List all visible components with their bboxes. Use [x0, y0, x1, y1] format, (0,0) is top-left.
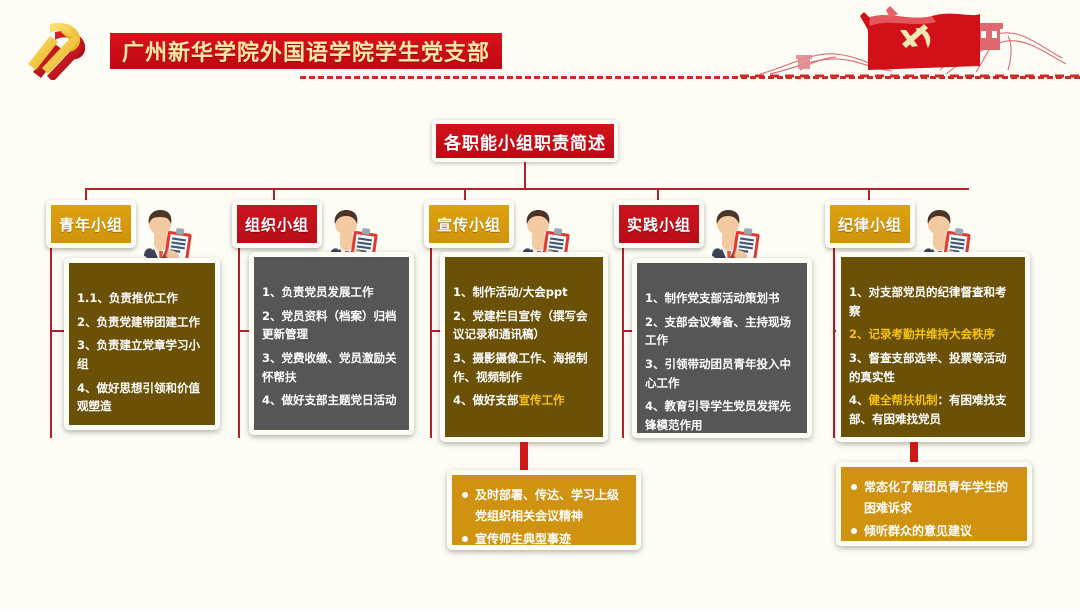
list-item: 倾听群众的意见建议	[851, 521, 1017, 542]
page-title: 广州新华学院外国语学院学生党支部	[110, 33, 502, 69]
slide-canvas: 广州新华学院外国语学院学生党支部	[0, 0, 1080, 609]
bullet-dot-icon	[851, 528, 857, 534]
group-title-2: 组织小组	[237, 205, 317, 243]
group-items-5: 1、对支部党员的纪律督查和考察 2、记录考勤并维持大会秩序 3、督查支部选举、投…	[841, 257, 1025, 437]
connector-rail-1	[50, 248, 52, 438]
bullet-dot-icon	[462, 536, 468, 542]
list-item: 3、摄影摄像工作、海报制作、视频制作	[453, 349, 595, 386]
group-header-5[interactable]: 纪律小组	[825, 200, 915, 248]
list-item: 1、制作党支部活动策划书	[645, 289, 799, 308]
list-item-prefix: 4、	[849, 393, 869, 407]
list-item: 3、党费收缴、党员激励关怀帮扶	[262, 349, 401, 386]
group-body-2: 1、负责党员发展工作 2、党员资料（档案）归档更新管理 3、党费收缴、党员激励关…	[249, 252, 414, 435]
sub-box-2-content: 常态化了解团员青年学生的困难诉求 倾听群众的意见建议	[841, 467, 1027, 541]
bullet-dot-icon	[462, 492, 468, 498]
group-title-1: 青年小组	[51, 205, 131, 243]
list-item: 1、制作活动/大会ppt	[453, 283, 595, 302]
list-item: 4、做好支部主题党日活动	[262, 391, 401, 410]
list-item: 宣传师生典型事迹	[462, 529, 626, 550]
group-body-1: 1.1、负责推优工作 2、负责党建带团建工作 3、负责建立党章学习小组 4、做好…	[64, 258, 220, 430]
group-items-4: 1、制作党支部活动策划书 2、支部会议筹备、主持现场工作 3、引领带动团员青年投…	[637, 263, 807, 433]
list-item-highlight: 宣传工作	[519, 393, 565, 407]
list-item-highlighted: 2、记录考勤并维持大会秩序	[849, 325, 1017, 344]
connector-root-stem	[524, 162, 526, 188]
list-item-highlighted: 4、健全帮扶机制：有困难找支部、有困难找党员	[849, 391, 1017, 428]
list-item: 2、负责党建带团建工作	[77, 313, 207, 332]
list-item: 2、支部会议筹备、主持现场工作	[645, 313, 799, 350]
group-title-5: 纪律小组	[830, 205, 910, 243]
root-title-label: 各职能小组职责简述	[436, 124, 614, 158]
list-item: 1、负责党员发展工作	[262, 283, 401, 302]
list-item: 2、党员资料（档案）归档更新管理	[262, 307, 401, 344]
list-item: 1、对支部党员的纪律督查和考察	[849, 283, 1017, 320]
group-header-4[interactable]: 实践小组	[614, 200, 704, 248]
connector-rail-5	[833, 248, 835, 438]
group-header-1[interactable]: 青年小组	[46, 200, 136, 248]
sub-box-1-content: 及时部署、传达、学习上级党组织相关会议精神 宣传师生典型事迹	[452, 475, 636, 545]
sub-bullet-text: 及时部署、传达、学习上级党组织相关会议精神	[475, 485, 626, 527]
group-body-4: 1、制作党支部活动策划书 2、支部会议筹备、主持现场工作 3、引领带动团员青年投…	[632, 258, 812, 438]
list-item: 3、负责建立党章学习小组	[77, 336, 207, 373]
connector-bus	[85, 188, 969, 190]
slide-header: 广州新华学院外国语学院学生党支部	[0, 0, 1080, 95]
list-item-highlight: 健全帮扶机制	[869, 393, 938, 407]
list-item: 1.1、负责推优工作	[77, 289, 207, 308]
list-item: 3、督查支部选举、投票等活动的真实性	[849, 349, 1017, 386]
list-item: 4、做好思想引领和价值观塑造	[77, 379, 207, 416]
group-items-2: 1、负责党员发展工作 2、党员资料（档案）归档更新管理 3、党费收缴、党员激励关…	[254, 257, 409, 430]
group-items-3: 1、制作活动/大会ppt 2、党建栏目宣传（撰写会议记录和通讯稿） 3、摄影摄像…	[445, 257, 603, 437]
party-emblem-hammer-sickle-icon	[22, 22, 104, 80]
list-item: 3、引领带动团员青年投入中心工作	[645, 355, 799, 392]
group-header-2[interactable]: 组织小组	[232, 200, 322, 248]
sub-bullet-text: 常态化了解团员青年学生的困难诉求	[864, 477, 1017, 519]
sub-bullet-text: 宣传师生典型事迹	[475, 529, 626, 550]
bullet-dot-icon	[851, 484, 857, 490]
group-title-4: 实践小组	[619, 205, 699, 243]
connector-rail-4	[622, 248, 624, 438]
connector-rail-2	[238, 248, 240, 438]
list-item-highlighted: 4、做好支部宣传工作	[453, 391, 595, 410]
root-title-box: 各职能小组职责简述	[432, 120, 618, 162]
list-item: 2、党建栏目宣传（撰写会议记录和通讯稿）	[453, 307, 595, 344]
red-flag-great-wall-icon	[740, 0, 1080, 80]
sub-bullet-text: 倾听群众的意见建议	[864, 521, 1017, 542]
list-item: 常态化了解团员青年学生的困难诉求	[851, 477, 1017, 519]
group-body-5: 1、对支部党员的纪律督查和考察 2、记录考勤并维持大会秩序 3、督查支部选举、投…	[836, 252, 1030, 442]
list-item: 及时部署、传达、学习上级党组织相关会议精神	[462, 485, 626, 527]
group-items-1: 1.1、负责推优工作 2、负责党建带团建工作 3、负责建立党章学习小组 4、做好…	[69, 263, 215, 425]
group-body-3: 1、制作活动/大会ppt 2、党建栏目宣传（撰写会议记录和通讯稿） 3、摄影摄像…	[440, 252, 608, 442]
list-item: 4、教育引导学生党员发挥先锋模范作用	[645, 397, 799, 434]
group-title-3: 宣传小组	[429, 205, 509, 243]
sub-box-1: 及时部署、传达、学习上级党组织相关会议精神 宣传师生典型事迹	[447, 470, 641, 550]
connector-rail-3	[430, 248, 432, 438]
sub-box-2: 常态化了解团员青年学生的困难诉求 倾听群众的意见建议	[836, 462, 1032, 546]
group-header-3[interactable]: 宣传小组	[424, 200, 514, 248]
list-item-prefix: 4、做好支部	[453, 393, 519, 407]
